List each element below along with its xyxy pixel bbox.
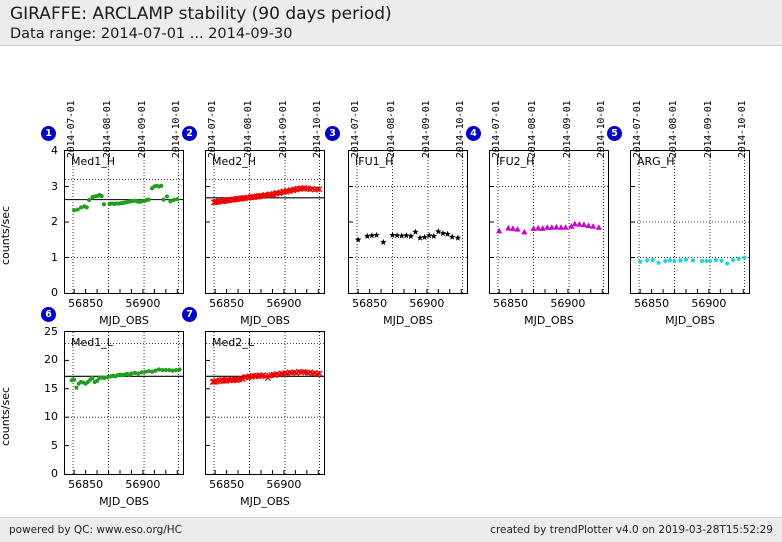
x-axis-label: MJD_OBS <box>84 314 164 327</box>
y-tick-label: 3 <box>30 180 58 193</box>
y-tick-label: 0 <box>30 286 58 299</box>
plot-series-4 <box>490 151 608 293</box>
date-tick-label: 2014-08-01 <box>243 101 254 158</box>
panel-title: Med1_L <box>71 336 113 349</box>
panel-badge-7[interactable]: 7 <box>182 307 197 322</box>
header-bar: GIRAFFE: ARCLAMP stability (90 days peri… <box>0 0 782 46</box>
x-tick-label: 56900 <box>401 297 453 310</box>
date-tick-label: 2014-08-01 <box>386 101 397 158</box>
x-axis-label: MJD_OBS <box>368 314 448 327</box>
plot-series-5 <box>631 151 749 293</box>
date-tick-label: 2014-09-01 <box>421 101 432 158</box>
y-tick-label: 1 <box>30 251 58 264</box>
footer-credit-right: created by trendPlotter v4.0 on 2019-03-… <box>490 524 773 536</box>
plot-series-7 <box>206 332 324 474</box>
plot-frame <box>64 331 184 475</box>
date-tick-label: 2014-08-01 <box>668 101 679 158</box>
y-tick-label: 10 <box>30 410 58 423</box>
panel-badge-5[interactable]: 5 <box>607 126 622 141</box>
x-tick-label: 56850 <box>485 297 537 310</box>
plot-series-2 <box>206 151 324 293</box>
plot-frame <box>630 150 750 294</box>
x-tick-label: 56900 <box>117 478 169 491</box>
panel-badge-2[interactable]: 2 <box>182 126 197 141</box>
x-tick-label: 56850 <box>201 297 253 310</box>
plot-frame <box>205 150 325 294</box>
y-tick-label: 5 <box>30 439 58 452</box>
y-tick-label: 25 <box>30 325 58 338</box>
plot-grid: Med1_H12014-07-012014-08-012014-09-01201… <box>0 46 782 517</box>
x-tick-label: 56900 <box>683 297 735 310</box>
x-axis-label: MJD_OBS <box>650 314 730 327</box>
x-tick-label: 56850 <box>60 478 112 491</box>
date-tick-label: 2014-08-01 <box>102 101 113 158</box>
y-tick-label: 2 <box>30 215 58 228</box>
x-tick-label: 56900 <box>117 297 169 310</box>
date-tick-label: 2014-09-01 <box>562 101 573 158</box>
date-tick-label: 2014-07-01 <box>66 101 77 158</box>
y-axis-label: counts/sec <box>0 206 12 265</box>
panel-title: Med2_L <box>212 336 254 349</box>
x-tick-label: 56850 <box>60 297 112 310</box>
x-tick-label: 56850 <box>626 297 678 310</box>
date-tick-label: 2014-07-01 <box>491 101 502 158</box>
date-tick-label: 2014-09-01 <box>703 101 714 158</box>
date-tick-label: 2014-10-01 <box>312 101 323 158</box>
panel-badge-6[interactable]: 6 <box>41 307 56 322</box>
x-tick-label: 56850 <box>201 478 253 491</box>
page-title: GIRAFFE: ARCLAMP stability (90 days peri… <box>10 4 782 25</box>
y-tick-label: 20 <box>30 353 58 366</box>
plot-series-3 <box>349 151 467 293</box>
x-axis-label: MJD_OBS <box>225 495 305 508</box>
date-tick-label: 2014-10-01 <box>171 101 182 158</box>
date-tick-label: 2014-07-01 <box>350 101 361 158</box>
page-subtitle: Data range: 2014-07-01 ... 2014-09-30 <box>10 25 782 44</box>
date-tick-label: 2014-09-01 <box>137 101 148 158</box>
panel-badge-3[interactable]: 3 <box>325 126 340 141</box>
date-tick-label: 2014-08-01 <box>527 101 538 158</box>
plot-frame <box>348 150 468 294</box>
x-axis-label: MJD_OBS <box>509 314 589 327</box>
y-axis-label: counts/sec <box>0 387 12 446</box>
plot-series-6 <box>65 332 183 474</box>
date-tick-label: 2014-10-01 <box>455 101 466 158</box>
plot-frame <box>64 150 184 294</box>
date-tick-label: 2014-09-01 <box>278 101 289 158</box>
y-tick-label: 4 <box>30 144 58 157</box>
x-tick-label: 56900 <box>542 297 594 310</box>
date-tick-label: 2014-10-01 <box>596 101 607 158</box>
plot-frame <box>205 331 325 475</box>
panel-badge-1[interactable]: 1 <box>41 126 56 141</box>
y-tick-label: 0 <box>30 467 58 480</box>
footer-credit-left: powered by QC: www.eso.org/HC <box>9 524 182 536</box>
date-tick-label: 2014-07-01 <box>207 101 218 158</box>
x-axis-label: MJD_OBS <box>84 495 164 508</box>
date-tick-label: 2014-10-01 <box>737 101 748 158</box>
y-tick-label: 15 <box>30 382 58 395</box>
plot-frame <box>489 150 609 294</box>
x-tick-label: 56850 <box>344 297 396 310</box>
x-tick-label: 56900 <box>258 297 310 310</box>
date-tick-label: 2014-07-01 <box>632 101 643 158</box>
footer-bar: powered by QC: www.eso.org/HC created by… <box>0 517 782 542</box>
x-axis-label: MJD_OBS <box>225 314 305 327</box>
x-tick-label: 56900 <box>258 478 310 491</box>
plot-series-1 <box>65 151 183 293</box>
panel-badge-4[interactable]: 4 <box>466 126 481 141</box>
